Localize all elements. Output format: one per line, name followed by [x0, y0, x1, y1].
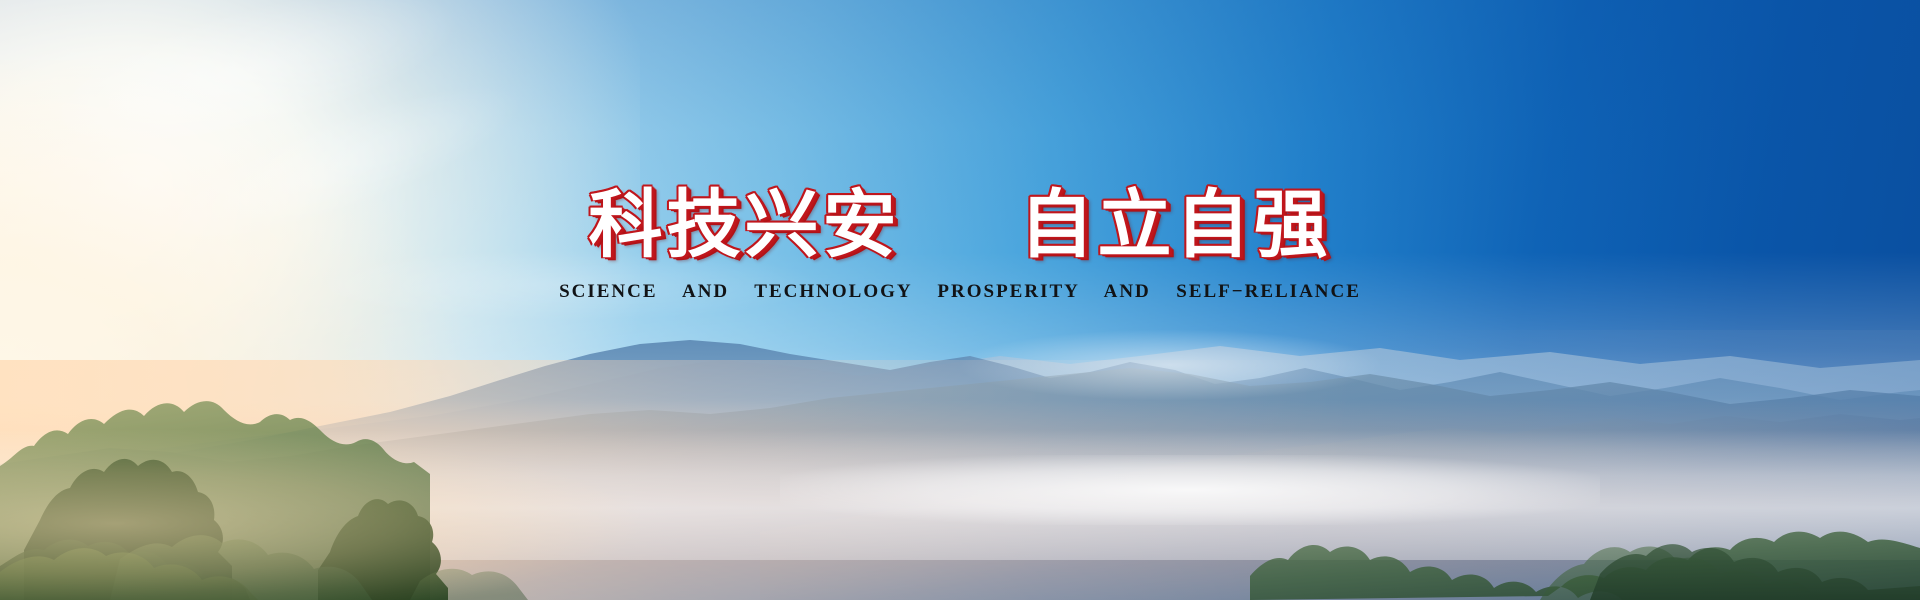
banner-title: 科技兴安 自立自强: [0, 186, 1920, 264]
foreground-trees-left: [0, 520, 1920, 600]
banner-subtitle: SCIENCE AND TECHNOLOGY PROSPERITY AND SE…: [0, 281, 1920, 303]
banner-hero: 科技兴安 自立自强 SCIENCE AND TECHNOLOGY PROSPER…: [0, 0, 1920, 600]
